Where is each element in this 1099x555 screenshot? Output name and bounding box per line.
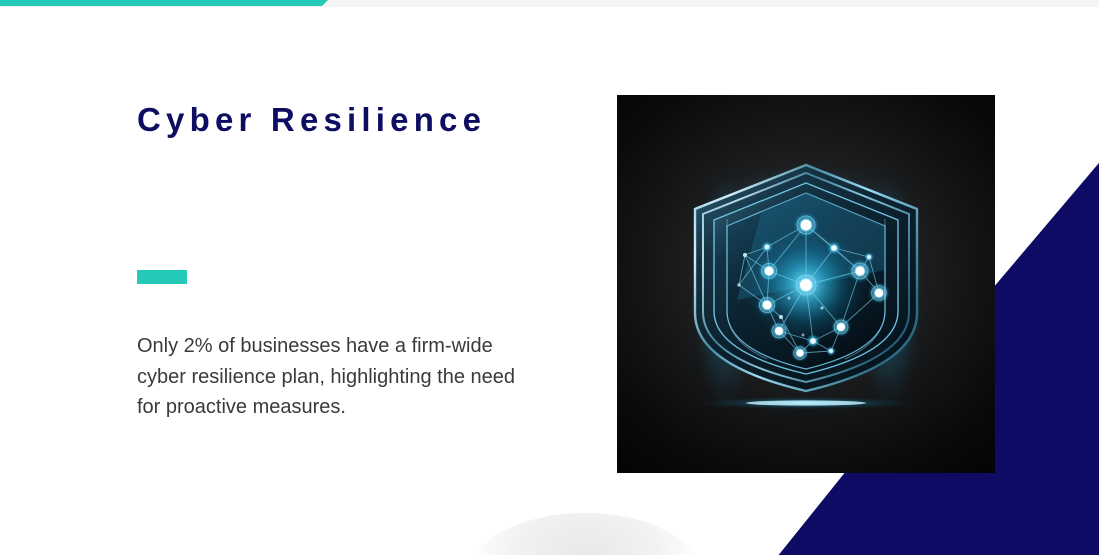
top-teal-strip <box>0 0 328 6</box>
shield-image <box>617 95 995 473</box>
shield-illustration <box>617 95 995 473</box>
text-column: Cyber Resilience <box>137 100 557 140</box>
teal-accent-bar <box>137 270 187 284</box>
bottom-gray-blob-decoration <box>470 513 700 555</box>
page-title: Cyber Resilience <box>137 100 557 140</box>
slide-canvas: Cyber Resilience Only 2% of businesses h… <box>0 0 1099 555</box>
body-paragraph: Only 2% of businesses have a firm-wide c… <box>137 331 533 423</box>
